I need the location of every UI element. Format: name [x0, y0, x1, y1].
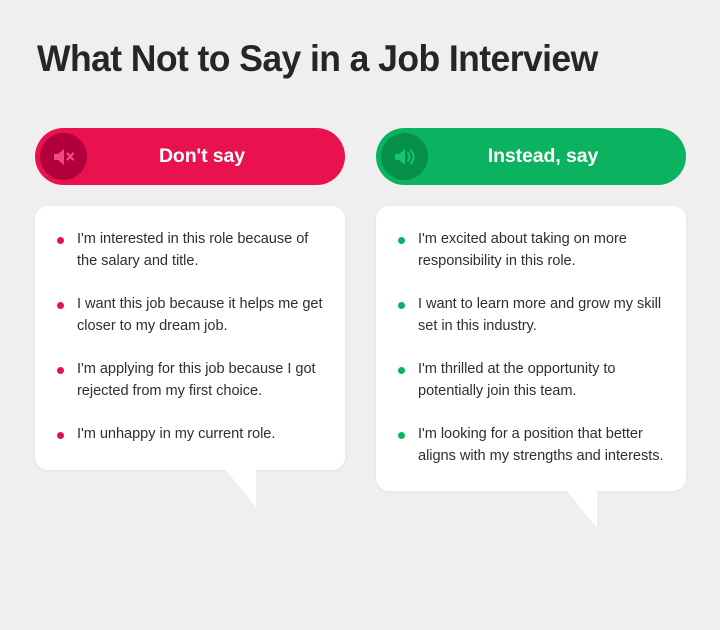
list-item: I want to learn more and grow my skill s… — [398, 294, 664, 337]
list-item: I'm excited about taking on more respons… — [398, 229, 664, 272]
card-instead-say: I'm excited about taking on more respons… — [376, 206, 686, 491]
card-dont-say: I'm interested in this role because of t… — [35, 206, 345, 470]
list-item: I'm applying for this job because I got … — [57, 359, 323, 402]
list-item: I'm thrilled at the opportunity to poten… — [398, 359, 664, 402]
column-instead-say: Instead, say I'm excited about taking on… — [376, 128, 686, 491]
column-dont-say: Don't say I'm interested in this role be… — [35, 128, 345, 470]
infographic-canvas: What Not to Say in a Job Interview Don't… — [0, 0, 720, 630]
speech-bubble-tail — [225, 469, 256, 507]
list-item: I'm unhappy in my current role. — [57, 424, 323, 446]
header-pill-dont-say: Don't say — [35, 128, 345, 185]
speaker-mute-icon — [40, 133, 87, 180]
list-item: I want this job because it helps me get … — [57, 294, 323, 337]
list-item: I'm looking for a position that better a… — [398, 424, 664, 467]
list-item: I'm interested in this role because of t… — [57, 229, 323, 272]
speech-bubble-tail — [566, 490, 597, 528]
list-dont-say: I'm interested in this role because of t… — [57, 229, 323, 446]
page-title: What Not to Say in a Job Interview — [37, 38, 598, 80]
header-pill-instead-say: Instead, say — [376, 128, 686, 185]
speaker-sound-icon — [381, 133, 428, 180]
list-instead-say: I'm excited about taking on more respons… — [398, 229, 664, 467]
